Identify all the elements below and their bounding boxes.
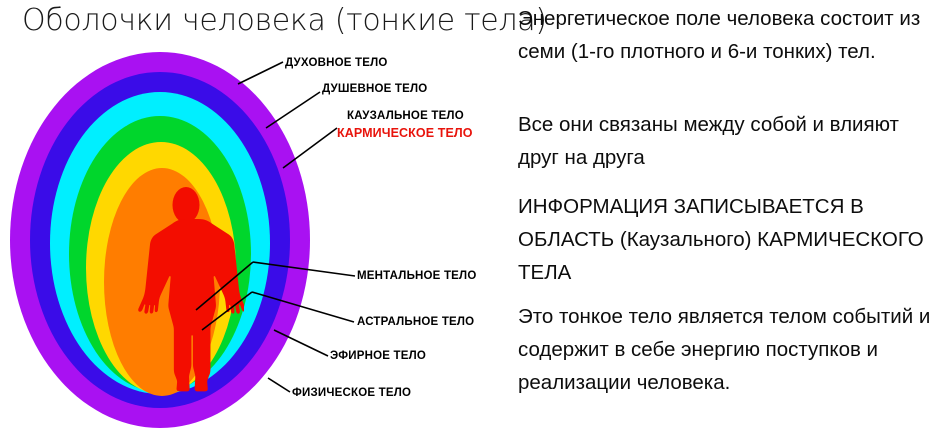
paragraph-energy-field: Энергетическое поле человека состоит из …	[518, 2, 942, 68]
label-karmic-body: КАРМИЧЕСКОЕ ТЕЛО	[337, 127, 473, 140]
label-astral-body: АСТРАЛЬНОЕ ТЕЛО	[357, 316, 474, 329]
label-etheric-body: ЭФИРНОЕ ТЕЛО	[330, 350, 426, 363]
paragraph-interconnection: Все они связаны между собой и влияют дру…	[518, 108, 942, 174]
description-panel: Энергетическое поле человека состоит из …	[518, 0, 948, 421]
label-soul-body: ДУШЕВНОЕ ТЕЛО	[322, 83, 427, 96]
label-spiritual-body: ДУХОВНОЕ ТЕЛО	[285, 57, 388, 70]
label-mental-body: МЕНТАЛЬНОЕ ТЕЛО	[357, 270, 476, 283]
paragraph-subtle-body: Это тонкое тело является телом событий и…	[518, 300, 942, 399]
paragraph-information-record: ИНФОРМАЦИЯ ЗАПИСЫВАЕТСЯ В ОБЛАСТЬ (Кауза…	[518, 190, 942, 289]
aura-diagram: Оболочки человека (тонкие тела)	[0, 0, 510, 421]
label-physical-body: ФИЗИЧЕСКОЕ ТЕЛО	[292, 387, 411, 400]
label-causal-body: КАУЗАЛЬНОЕ ТЕЛО	[347, 110, 464, 123]
page-root: Оболочки человека (тонкие тела)	[0, 0, 948, 421]
human-silhouette	[128, 186, 244, 401]
